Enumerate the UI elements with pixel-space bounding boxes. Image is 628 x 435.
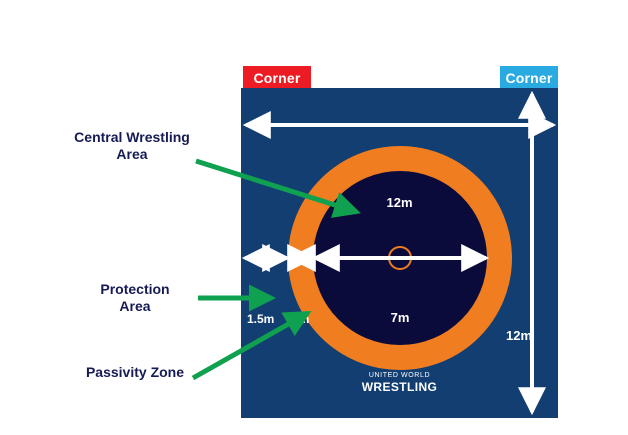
corner-badge-red: Corner (243, 66, 311, 90)
uww-logo-line1: UNITED WORLD (241, 371, 558, 380)
center-circle (388, 246, 412, 270)
corner-badge-blue: Corner (500, 66, 558, 90)
dimension-label-height: 12m (506, 328, 532, 343)
label-central-wrestling-area: Central Wrestling Area (62, 129, 202, 163)
label-protection-area: Protection Area (80, 281, 190, 315)
dimension-label-passivity: 1m (292, 312, 309, 326)
uww-logo-line2: WRESTLING (241, 380, 558, 394)
label-central-wrestling-area-line1: Central Wrestling (74, 129, 190, 145)
dimension-label-protection: 1.5m (247, 312, 274, 326)
dimension-label-width: 12m (241, 195, 558, 210)
label-passivity-zone: Passivity Zone (70, 364, 200, 381)
uww-logo: UNITED WORLD WRESTLING (241, 371, 558, 394)
label-protection-area-line2: Area (119, 298, 150, 314)
dimension-label-central-diameter: 7m (315, 310, 485, 325)
label-central-wrestling-area-line2: Area (116, 146, 147, 162)
wrestling-mat: 12m 7m 1.5m 1m 12m UNITED WORLD WRESTLIN… (241, 88, 558, 418)
label-protection-area-line1: Protection (100, 281, 169, 297)
diagram-canvas: Corner Corner (0, 0, 628, 435)
